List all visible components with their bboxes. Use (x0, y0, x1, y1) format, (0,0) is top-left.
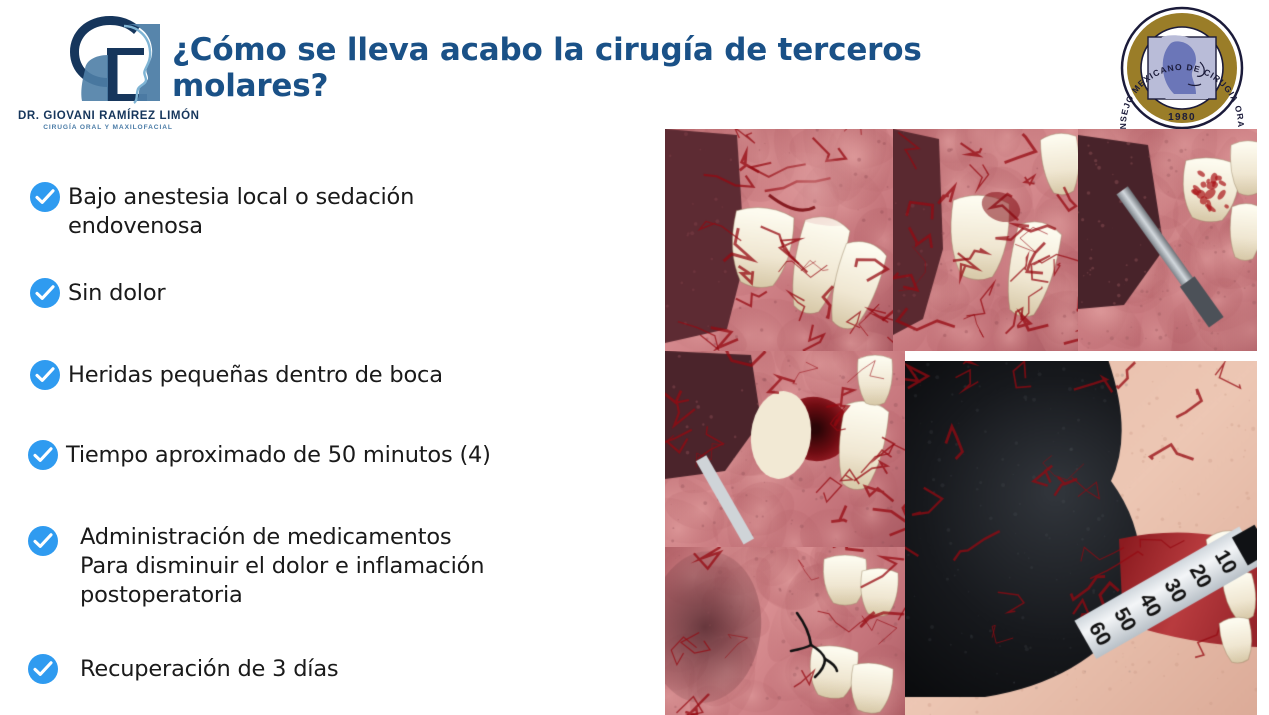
check-circle-icon (28, 526, 58, 556)
bullet-item-anestesia: Bajo anestesia local o sedación endoveno… (30, 182, 630, 241)
collage-photo-2 (893, 129, 1078, 351)
check-circle-icon (30, 278, 60, 308)
clinic-logo-name: DR. GIOVANI RAMÍREZ LIMÓN (18, 110, 198, 122)
bullet-label: Administración de medicamentos Para dism… (80, 522, 484, 609)
procedure-bullet-list: Bajo anestesia local o sedación endoveno… (0, 160, 650, 705)
surgery-photo-collage (665, 129, 1257, 715)
collage-photo-1 (665, 129, 893, 351)
collage-photo-3 (1078, 129, 1257, 351)
bullet-label: Heridas pequeñas dentro de boca (68, 360, 443, 390)
bullet-label: Bajo anestesia local o sedación endoveno… (68, 182, 414, 241)
certification-seal-icon: CONSEJO MEXICANO DE CIRUGIA ORAL Y MAXIL… (1104, 4, 1260, 132)
bullet-label: Tiempo aproximado de 50 minutos (4) (66, 440, 491, 470)
bullet-item-medicamentos: Administración de medicamentos Para dism… (28, 522, 638, 609)
gl-monogram-head-profile-icon (52, 8, 168, 104)
clinic-logo: DR. GIOVANI RAMÍREZ LIMÓN CIRUGÍA ORAL Y… (18, 6, 198, 131)
collage-photo-4 (665, 351, 905, 547)
bullet-item-recuperacion: Recuperación de 3 días (28, 654, 628, 684)
bullet-item-heridas: Heridas pequeñas dentro de boca (30, 360, 630, 390)
bullet-item-tiempo: Tiempo aproximado de 50 minutos (4) (28, 440, 628, 470)
collage-photo-6 (905, 361, 1257, 715)
page-title: ¿Cómo se lleva acabo la cirugía de terce… (172, 33, 1082, 104)
slide-header: DR. GIOVANI RAMÍREZ LIMÓN CIRUGÍA ORAL Y… (0, 0, 1269, 130)
clinic-logo-subtitle: CIRUGÍA ORAL Y MAXILOFACIAL (18, 124, 198, 131)
check-circle-icon (30, 182, 60, 212)
check-circle-icon (30, 360, 60, 390)
bullet-label: Recuperación de 3 días (80, 654, 338, 684)
seal-year: 1980 (1168, 112, 1196, 123)
check-circle-icon (28, 654, 58, 684)
check-circle-icon (28, 440, 58, 470)
bullet-label: Sin dolor (68, 278, 165, 308)
bullet-item-sin-dolor: Sin dolor (30, 278, 630, 308)
collage-photo-5 (665, 547, 905, 715)
